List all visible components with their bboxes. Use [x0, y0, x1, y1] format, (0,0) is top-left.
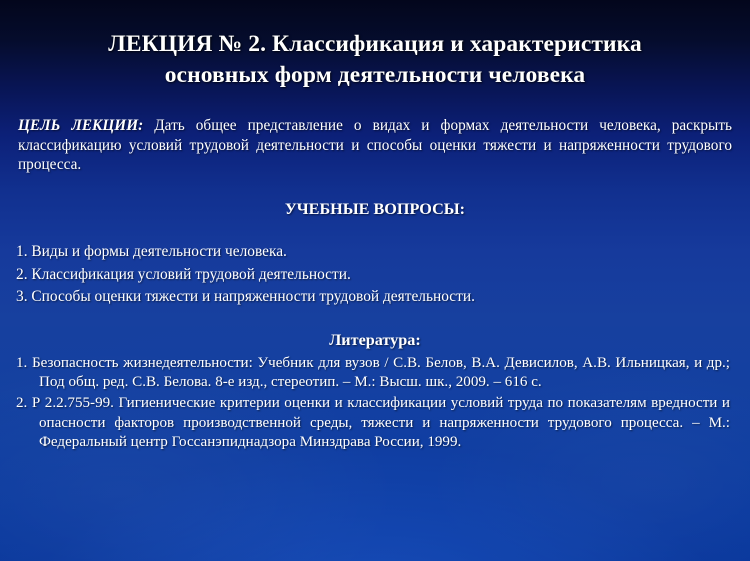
list-item: 1. Виды и формы деятельности человека.	[16, 241, 734, 264]
lecture-goal-label: ЦЕЛЬ ЛЕКЦИИ:	[18, 117, 143, 134]
lecture-goal-paragraph: ЦЕЛЬ ЛЕКЦИИ: Дать общее представление о …	[18, 116, 732, 175]
slide-title: ЛЕКЦИЯ № 2. Классификация и характеристи…	[0, 29, 750, 90]
study-questions-heading: УЧЕБНЫЕ ВОПРОСЫ:	[0, 200, 750, 219]
literature-list: 1. Безопасность жизнедеятельности: Учебн…	[0, 354, 750, 453]
list-item: 2. Р 2.2.755-99. Гигиенические критерии …	[16, 394, 730, 453]
literature-heading: Литература:	[0, 331, 750, 350]
slide-title-line-2: основных форм деятельности человека	[52, 60, 698, 91]
list-item: 2. Классификация условий трудовой деятел…	[16, 264, 734, 287]
list-item: 3. Способы оценки тяжести и напряженност…	[16, 286, 734, 309]
presentation-slide: ЛЕКЦИЯ № 2. Классификация и характеристи…	[0, 0, 750, 561]
list-item: 1. Безопасность жизнедеятельности: Учебн…	[16, 354, 730, 393]
study-questions-list: 1. Виды и формы деятельности человека. 2…	[0, 241, 750, 309]
slide-title-line-1: ЛЕКЦИЯ № 2. Классификация и характеристи…	[52, 29, 698, 60]
